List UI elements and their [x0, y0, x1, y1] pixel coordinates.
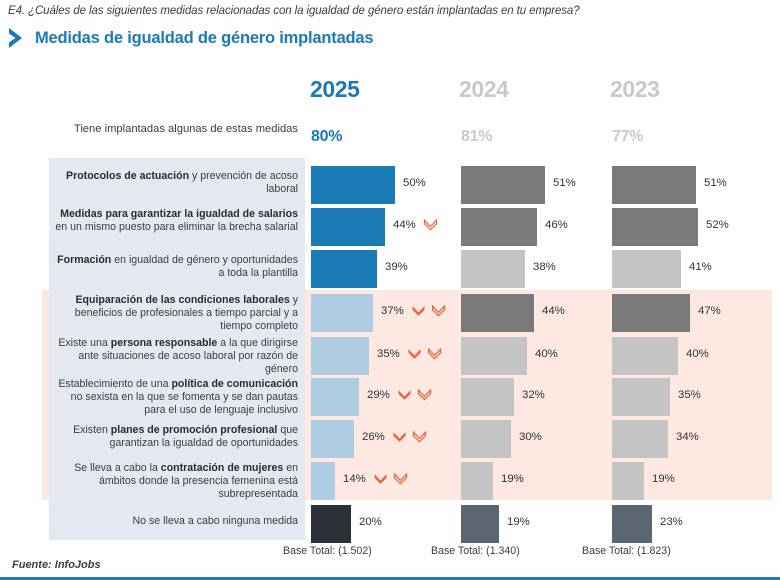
summary-value-2024: 81% [461, 128, 492, 146]
bar-2025 [311, 462, 335, 500]
year-header-2023: 2023 [610, 76, 660, 103]
bar-2025 [311, 294, 373, 332]
chevron-down-outline-icon [431, 303, 446, 318]
bar-2025 [311, 378, 359, 416]
bar-2024 [461, 378, 514, 416]
bar-value-2024: 19% [507, 516, 530, 528]
bar-2023 [612, 250, 681, 288]
trend-indicators [411, 303, 446, 318]
bar-cell-2025: 35% [311, 337, 451, 375]
summary-row-label: Tiene implantadas algunas de estas medid… [70, 122, 298, 136]
row-label: Formación en igualdad de género y oportu… [55, 254, 298, 280]
bar-2023 [612, 462, 644, 500]
bar-cell-2024: 30% [461, 420, 601, 458]
trend-indicators [407, 346, 442, 361]
chevron-down-filled-icon [397, 387, 412, 402]
bar-2025 [311, 420, 354, 458]
bar-cell-2023: 47% [612, 294, 752, 332]
row-label: Establecimiento de una política de comun… [55, 378, 298, 418]
bar-value-2024: 32% [522, 389, 545, 401]
chevron-down-outline-icon [417, 387, 432, 402]
bar-value-2023: 35% [678, 389, 701, 401]
bar-value-2024: 30% [519, 431, 542, 443]
year-header-2024: 2024 [459, 76, 509, 103]
bar-value-2024: 44% [542, 305, 565, 317]
bar-2024 [461, 294, 534, 332]
bar-cell-2023: 40% [612, 337, 752, 375]
bar-2023 [612, 208, 698, 246]
bar-2025 [311, 166, 395, 204]
bar-2024 [461, 462, 493, 500]
bar-cell-2025: 37% [311, 294, 451, 332]
chart-title-row: Medidas de igualdad de género implantada… [6, 26, 373, 50]
row-label: No se lleva a cabo ninguna medida [55, 515, 298, 528]
row-label: Medidas para garantizar la igualdad de s… [55, 208, 298, 234]
chevron-down-outline-icon [412, 429, 427, 444]
bar-2025 [311, 250, 377, 288]
bar-2024 [461, 208, 537, 246]
bar-cell-2025: 29% [311, 378, 451, 416]
trend-indicators [397, 387, 432, 402]
bar-2025 [311, 208, 385, 246]
chevron-down-filled-icon [392, 429, 407, 444]
row-label: Existen planes de promoción profesional … [55, 424, 298, 450]
bar-cell-2023: 35% [612, 378, 752, 416]
bar-cell-2024: 51% [461, 166, 601, 204]
bar-value-2025: 20% [359, 516, 382, 528]
summary-value-2025: 80% [311, 128, 342, 146]
bar-value-2023: 19% [652, 473, 675, 485]
row-label: Equiparación de las condiciones laborale… [55, 294, 298, 334]
bar-2023 [612, 378, 670, 416]
chevron-down-outline-icon [423, 217, 438, 232]
bar-value-2023: 51% [704, 177, 727, 189]
bar-cell-2024: 40% [461, 337, 601, 375]
bar-cell-2025: 14% [311, 462, 451, 500]
bar-value-2024: 40% [535, 348, 558, 360]
bar-cell-2024: 44% [461, 294, 601, 332]
chart-page: E4. ¿Cuáles de las siguientes medidas re… [0, 0, 780, 580]
base-total-2024: Base Total: (1.340) [431, 545, 520, 557]
bar-2024 [461, 337, 527, 375]
chevron-down-filled-icon [373, 471, 388, 486]
bar-value-2024: 19% [501, 473, 524, 485]
bar-value-2023: 23% [660, 516, 683, 528]
bar-value-2025: 29% [367, 389, 390, 401]
bar-cell-2025: 44% [311, 208, 451, 246]
trend-indicators [423, 217, 438, 232]
bar-cell-2024: 19% [461, 462, 601, 500]
bar-value-2025: 14% [343, 473, 366, 485]
bar-cell-2023: 19% [612, 462, 752, 500]
bar-2024 [461, 505, 499, 543]
bar-2025 [311, 505, 351, 543]
source-note: Fuente: InfoJobs [12, 559, 101, 571]
bar-cell-2023: 52% [612, 208, 752, 246]
bar-cell-2025: 20% [311, 505, 451, 543]
bar-value-2023: 41% [689, 261, 712, 273]
row-label: Protocolos de actuación y prevención de … [55, 170, 298, 196]
bar-value-2024: 51% [553, 177, 576, 189]
bar-2023 [612, 294, 690, 332]
bar-value-2025: 26% [362, 431, 385, 443]
trend-indicators [392, 429, 427, 444]
bar-value-2023: 34% [676, 431, 699, 443]
question-text: E4. ¿Cuáles de las siguientes medidas re… [8, 5, 580, 17]
bar-value-2024: 38% [533, 261, 556, 273]
chevron-down-outline-icon [427, 346, 442, 361]
bar-value-2025: 44% [393, 219, 416, 231]
bar-cell-2024: 19% [461, 505, 601, 543]
bar-cell-2024: 38% [461, 250, 601, 288]
bar-value-2025: 37% [381, 305, 404, 317]
bar-2025 [311, 337, 369, 375]
bar-2024 [461, 166, 545, 204]
base-total-2023: Base Total: (1.823) [582, 545, 671, 557]
bar-2023 [612, 505, 652, 543]
bar-value-2025: 35% [377, 348, 400, 360]
bar-cell-2023: 41% [612, 250, 752, 288]
bar-cell-2023: 34% [612, 420, 752, 458]
bar-cell-2025: 26% [311, 420, 451, 458]
bar-2024 [461, 420, 511, 458]
bar-cell-2024: 32% [461, 378, 601, 416]
year-header-2025: 2025 [310, 76, 360, 103]
bar-2023 [612, 337, 678, 375]
bar-cell-2024: 46% [461, 208, 601, 246]
bar-2024 [461, 250, 525, 288]
bar-cell-2025: 39% [311, 250, 451, 288]
bar-value-2025: 39% [385, 261, 408, 273]
row-label: Existe una persona responsable a la que … [55, 337, 298, 377]
bar-value-2023: 47% [698, 305, 721, 317]
bar-cell-2023: 51% [612, 166, 752, 204]
bar-2023 [612, 166, 696, 204]
chart-title: Medidas de igualdad de género implantada… [35, 29, 373, 48]
bar-2023 [612, 420, 668, 458]
summary-value-2023: 77% [612, 128, 643, 146]
chevron-down-outline-icon [393, 471, 408, 486]
trend-indicators [373, 471, 408, 486]
bar-cell-2023: 23% [612, 505, 752, 543]
bar-value-2023: 52% [706, 219, 729, 231]
row-label: Se lleva a cabo la contratación de mujer… [55, 462, 298, 502]
base-total-2025: Base Total: (1.502) [283, 545, 372, 557]
bar-value-2025: 50% [403, 177, 426, 189]
chevron-down-filled-icon [411, 303, 426, 318]
chevron-down-filled-icon [407, 346, 422, 361]
bar-cell-2025: 50% [311, 166, 451, 204]
bar-value-2023: 40% [686, 348, 709, 360]
bar-value-2024: 46% [545, 219, 568, 231]
chevron-right-icon [6, 26, 26, 50]
